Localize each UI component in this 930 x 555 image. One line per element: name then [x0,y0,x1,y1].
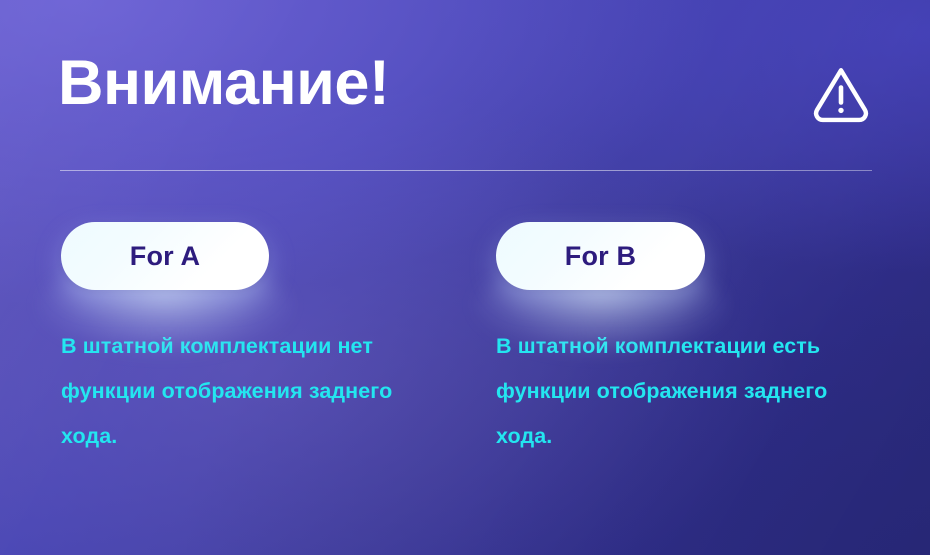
header-divider [60,170,872,171]
option-column-a: For A В штатной комплектации нет функции… [61,222,461,459]
for-b-button[interactable]: For B [496,222,705,290]
option-a-description: В штатной комплектации нет функции отобр… [61,290,446,459]
warning-slide: Внимание! For A В штатной комплектации н… [0,0,930,555]
page-title: Внимание! [58,52,389,115]
option-column-b: For B В штатной комплектации есть функци… [496,222,896,459]
for-a-button-wrap: For A [61,222,269,290]
for-a-button[interactable]: For A [61,222,269,290]
for-b-button-wrap: For B [496,222,705,290]
option-b-description: В штатной комплектации есть функции отоб… [496,290,886,459]
warning-triangle-icon [810,62,872,124]
